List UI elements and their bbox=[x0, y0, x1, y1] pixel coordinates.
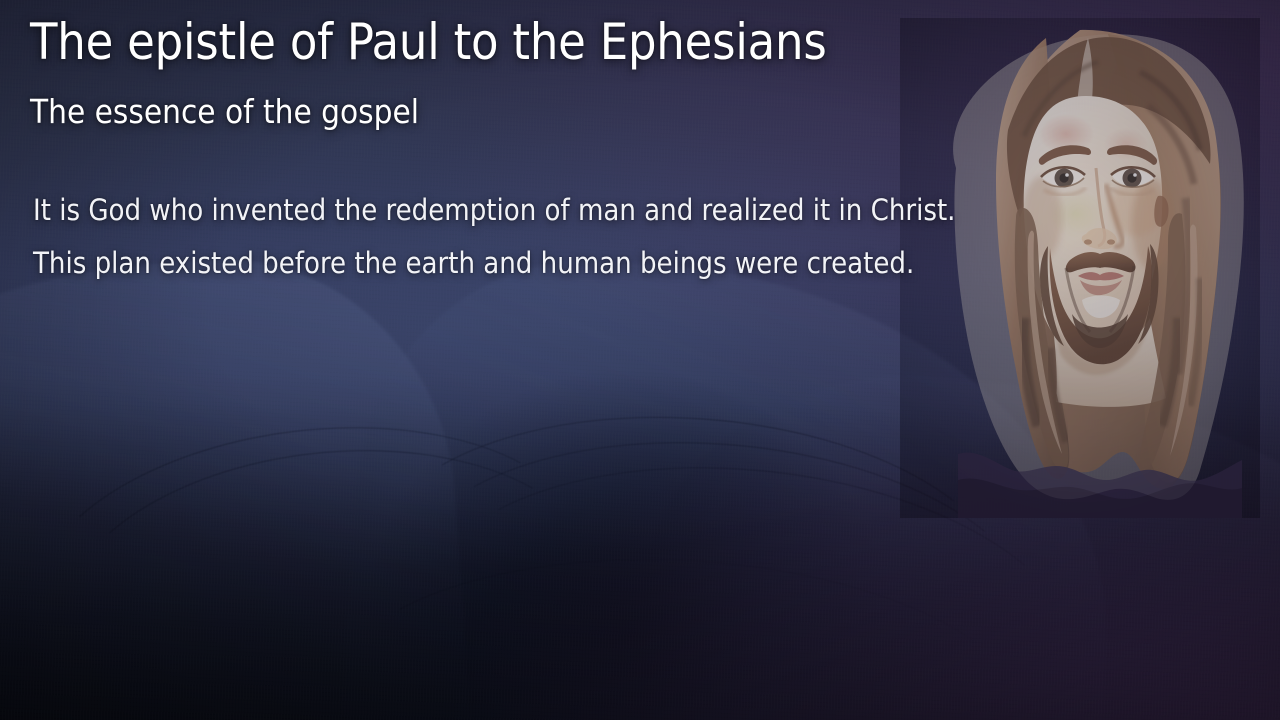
book-page-left bbox=[0, 244, 481, 720]
body-line: It is God who invented the redemption of… bbox=[33, 184, 955, 237]
page-title: The epistle of Paul to the Ephesians bbox=[30, 16, 827, 69]
slide-body-text: It is God who invented the redemption of… bbox=[33, 184, 955, 290]
portrait-paper-wash bbox=[953, 34, 1244, 500]
presentation-slide: The epistle of Paul to the Ephesians The… bbox=[0, 0, 1280, 720]
slide-subtitle: The essence of the gospel bbox=[30, 94, 419, 130]
body-line: This plan existed before the earth and h… bbox=[33, 237, 955, 290]
